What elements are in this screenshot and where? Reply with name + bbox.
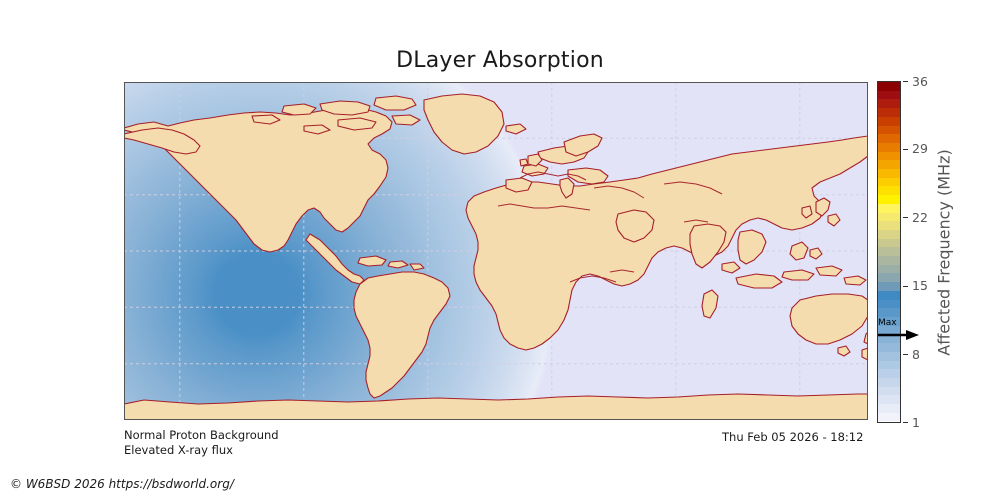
colorbar-segment — [878, 352, 900, 361]
colorbar-tick-mark — [903, 286, 908, 287]
colorbar-segment — [878, 221, 900, 230]
colorbar-tick-mark — [903, 81, 908, 82]
colorbar-tick-label: 29 — [912, 140, 928, 158]
colorbar-segment — [878, 143, 900, 152]
colorbar-segment — [878, 99, 900, 108]
colorbar-segment — [878, 160, 900, 169]
colorbar-tick-label: 22 — [912, 209, 928, 227]
colorbar-segment — [878, 387, 900, 396]
colorbar-segment — [878, 82, 900, 91]
colorbar-segment — [878, 178, 900, 187]
colorbar-segment — [878, 282, 900, 291]
status-line-1: Normal Proton Background — [124, 428, 279, 443]
colorbar-segment — [878, 308, 900, 317]
colorbar-axis-label: Affected Frequency (MHz) — [930, 81, 958, 423]
colorbar[interactable] — [877, 81, 901, 423]
page-title: DLayer Absorption — [0, 48, 1000, 73]
figure-canvas: DLayer Absorption — [0, 0, 1000, 500]
colorbar-segment — [878, 204, 900, 213]
colorbar-tick-label: 8 — [912, 346, 920, 364]
colorbar-segment — [878, 152, 900, 161]
colorbar-segment — [878, 213, 900, 222]
colorbar-segment — [878, 291, 900, 300]
colorbar-segment — [878, 108, 900, 117]
colorbar-segment — [878, 186, 900, 195]
colorbar-segment — [878, 343, 900, 352]
copyright-notice: © W6BSD 2026 https://bsdworld.org/ — [10, 477, 234, 491]
colorbar-segment — [878, 247, 900, 256]
colorbar-tick-label: 15 — [912, 277, 928, 295]
colorbar-segment — [878, 413, 900, 422]
colorbar-segment — [878, 334, 900, 343]
colorbar-tick-mark — [903, 422, 908, 423]
colorbar-segment — [878, 273, 900, 282]
colorbar-segment — [878, 265, 900, 274]
status-line-2: Elevated X-ray flux — [124, 443, 279, 458]
colorbar-tick-mark — [903, 149, 908, 150]
colorbar-segment — [878, 195, 900, 204]
colorbar-segment — [878, 126, 900, 135]
colorbar-segment — [878, 361, 900, 370]
colorbar-tick-label: 1 — [912, 414, 920, 432]
colorbar-segment — [878, 404, 900, 413]
colorbar-segment — [878, 239, 900, 248]
colorbar-segment — [878, 91, 900, 100]
colorbar-segment — [878, 169, 900, 178]
colorbar-segment — [878, 317, 900, 326]
colorbar-segment — [878, 300, 900, 309]
colorbar-segment — [878, 256, 900, 265]
world-map — [124, 82, 868, 420]
colorbar-segment — [878, 369, 900, 378]
colorbar-segment — [878, 134, 900, 143]
colorbar-tick-mark — [903, 217, 908, 218]
status-text: Normal Proton Background Elevated X-ray … — [124, 428, 279, 458]
colorbar-tick-label: 36 — [912, 73, 928, 91]
colorbar-segment — [878, 230, 900, 239]
colorbar-segment — [878, 117, 900, 126]
timestamp: Thu Feb 05 2026 - 18:12 — [722, 430, 863, 444]
colorbar-segment — [878, 378, 900, 387]
colorbar-axis-label-text: Affected Frequency (MHz) — [935, 149, 954, 355]
map-axes[interactable] — [124, 82, 868, 420]
colorbar-segment — [878, 395, 900, 404]
colorbar-tick-mark — [903, 354, 908, 355]
colorbar-segment — [878, 326, 900, 335]
